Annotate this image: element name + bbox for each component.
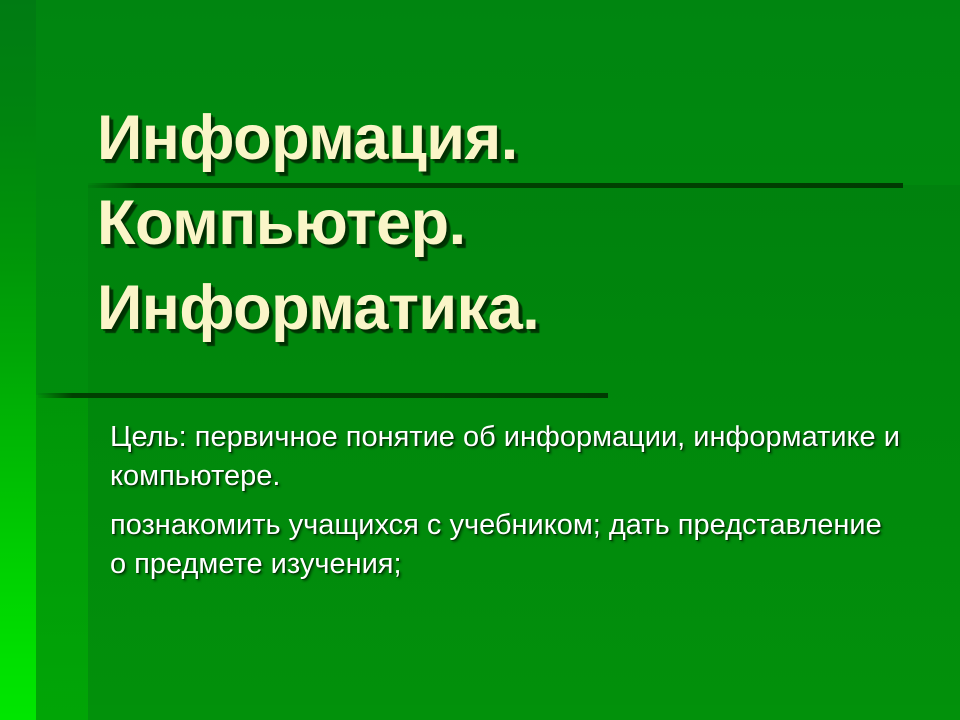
slide-title: Информация. Компьютер. Информатика. [97, 96, 917, 351]
body-paragraph-goal: Цель: первичное понятие об информации, и… [110, 418, 900, 496]
slide-body: Цель: первичное понятие об информации, и… [110, 418, 900, 584]
body-paragraph-objectives: познакомить учащихся с учебником; дать п… [110, 506, 900, 584]
title-line-2: Компьютер. [97, 181, 917, 266]
left-accent-strip [0, 0, 36, 720]
presentation-slide: Информация. Компьютер. Информатика. Цель… [0, 0, 960, 720]
divider-line-middle [38, 393, 608, 398]
title-line-1: Информация. [97, 96, 917, 181]
title-line-3: Информатика. [97, 266, 917, 351]
accent-band-background [36, 395, 88, 720]
